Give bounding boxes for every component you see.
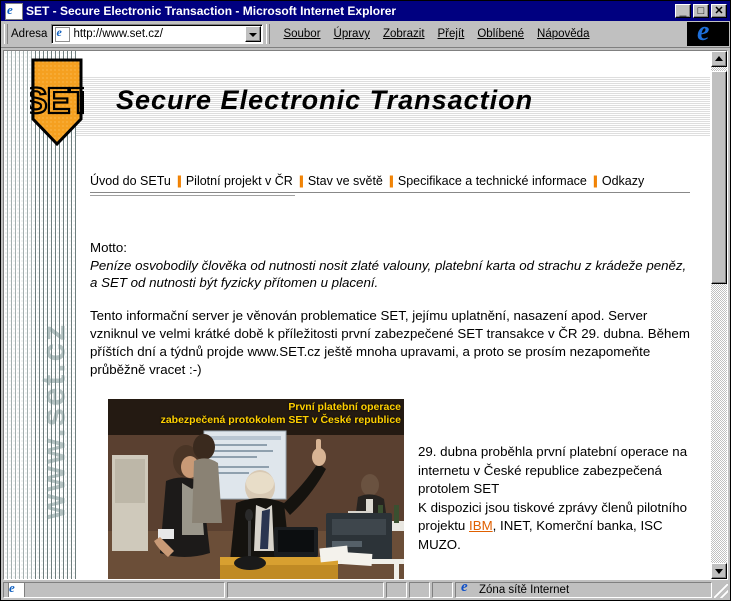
status-indicator-panel-3	[432, 582, 453, 598]
menu-item-napoveda-label: Nápověda	[537, 28, 589, 40]
menu-bar: Soubor Úpravy Zobrazit Přejít Oblíbené N…	[283, 28, 687, 40]
status-message-panel	[3, 582, 225, 598]
maximize-button[interactable]: □	[693, 4, 709, 18]
address-dropdown-button[interactable]	[245, 26, 261, 42]
page-favicon-icon	[55, 27, 70, 42]
maximize-icon: □	[694, 5, 708, 17]
window-icon	[5, 3, 23, 20]
status-indicator-panel-2	[409, 582, 430, 598]
address-bar[interactable]: http://www.set.cz/	[51, 24, 263, 44]
scroll-thumb[interactable]	[711, 71, 727, 284]
photo-overlay-line-1: První platební operace	[161, 401, 401, 414]
client-area: www.set.cz SET Secure Electronic Transac…	[3, 50, 728, 580]
close-icon: ✕	[712, 5, 726, 17]
photo-overlay-caption: První platební operace zabezpečená proto…	[161, 401, 401, 427]
status-indicator-panel-1	[386, 582, 407, 598]
nav-separator-4: ||	[593, 174, 596, 188]
caption-part-1: 29. dubna proběhla první platební operac…	[418, 444, 687, 496]
menu-item-oblibene-label: Oblíbené	[477, 28, 524, 40]
security-zone-panel[interactable]: Zóna sítě Internet	[455, 582, 712, 598]
status-progress-panel	[227, 582, 384, 598]
menu-item-napoveda[interactable]: Nápověda	[537, 28, 589, 40]
nav-divider-line-2	[90, 195, 295, 196]
status-document-icon	[8, 582, 25, 598]
window-title: SET - Secure Electronic Transaction - Mi…	[26, 4, 675, 18]
set-shield-logo-icon[interactable]: SET	[30, 57, 84, 147]
menu-item-prejit[interactable]: Přejít	[438, 28, 465, 40]
photo-overlay-line-2: zabezpečená protokolem SET v České repub…	[161, 414, 401, 427]
status-bar: Zóna sítě Internet	[1, 580, 730, 600]
internet-explorer-logo-icon	[687, 22, 729, 46]
internet-zone-icon	[460, 583, 475, 598]
menu-item-zobrazit[interactable]: Zobrazit	[383, 28, 425, 40]
motto-label: Motto:	[90, 239, 692, 256]
ibm-press-link[interactable]: IBM	[469, 518, 493, 533]
nav-separator-2: ||	[299, 174, 302, 188]
security-zone-label: Zóna sítě Internet	[479, 584, 569, 596]
site-title: Secure Electronic Transaction	[116, 85, 533, 116]
intro-paragraph: Tento informační server je věnován probl…	[90, 307, 692, 379]
toolbar-grip-menu[interactable]	[266, 24, 270, 44]
menu-item-zobrazit-label: Zobrazit	[383, 28, 425, 40]
site-header: SET Secure Electronic Transaction	[4, 51, 710, 149]
scroll-down-button[interactable]	[711, 563, 727, 579]
toolbar: Adresa http://www.set.cz/ Soubor Úpravy …	[1, 21, 730, 48]
svg-text:SET: SET	[30, 80, 84, 121]
scroll-up-button[interactable]	[711, 51, 727, 67]
site-navigation: Úvod do SETu || Pilotní projekt v ČR || …	[90, 174, 694, 188]
address-label: Adresa	[11, 28, 47, 40]
page-content: Motto: Peníze osvobodily člověka od nutn…	[90, 239, 692, 379]
menu-item-upravy[interactable]: Úpravy	[334, 28, 370, 40]
menu-item-prejit-label: Přejít	[438, 28, 465, 40]
menu-item-upravy-label: Úpravy	[334, 28, 370, 40]
nav-separator-3: ||	[389, 174, 392, 188]
minimize-button[interactable]: _	[675, 4, 691, 18]
nav-divider	[90, 192, 690, 196]
nav-separator-1: ||	[177, 174, 180, 188]
nav-divider-line-1	[90, 192, 690, 193]
window-resize-grip[interactable]	[714, 584, 728, 598]
menu-item-soubor-label: Soubor	[283, 28, 320, 40]
window-controls: _ □ ✕	[675, 4, 727, 18]
photo-block: První platební operace zabezpečená proto…	[108, 399, 694, 579]
web-page: www.set.cz SET Secure Electronic Transac…	[4, 51, 710, 579]
toolbar-grip-address[interactable]	[4, 24, 8, 44]
nav-link-pilotni-projekt[interactable]: Pilotní projekt v ČR	[186, 174, 293, 188]
nav-link-odkazy[interactable]: Odkazy	[602, 174, 644, 188]
menu-item-soubor[interactable]: Soubor	[283, 28, 320, 40]
vertical-scrollbar[interactable]	[710, 51, 727, 579]
nav-link-uvod-do-setu[interactable]: Úvod do SETu	[90, 174, 171, 188]
close-button[interactable]: ✕	[711, 4, 727, 18]
motto-text: Peníze osvobodily člověka od nutnosti no…	[90, 257, 692, 291]
nav-link-stav-ve-svete[interactable]: Stav ve světě	[308, 174, 383, 188]
conference-photo: První platební operace zabezpečená proto…	[108, 399, 404, 579]
photo-side-caption: 29. dubna proběhla první platební operac…	[418, 399, 694, 554]
minimize-icon: _	[676, 6, 690, 15]
menu-item-oblibene[interactable]: Oblíbené	[477, 28, 524, 40]
title-bar: SET - Secure Electronic Transaction - Mi…	[1, 1, 730, 21]
address-input[interactable]: http://www.set.cz/	[73, 28, 245, 40]
browser-window: SET - Secure Electronic Transaction - Mi…	[0, 0, 731, 601]
scroll-track[interactable]	[711, 67, 727, 563]
nav-link-specifikace[interactable]: Specifikace a technické informace	[398, 174, 587, 188]
